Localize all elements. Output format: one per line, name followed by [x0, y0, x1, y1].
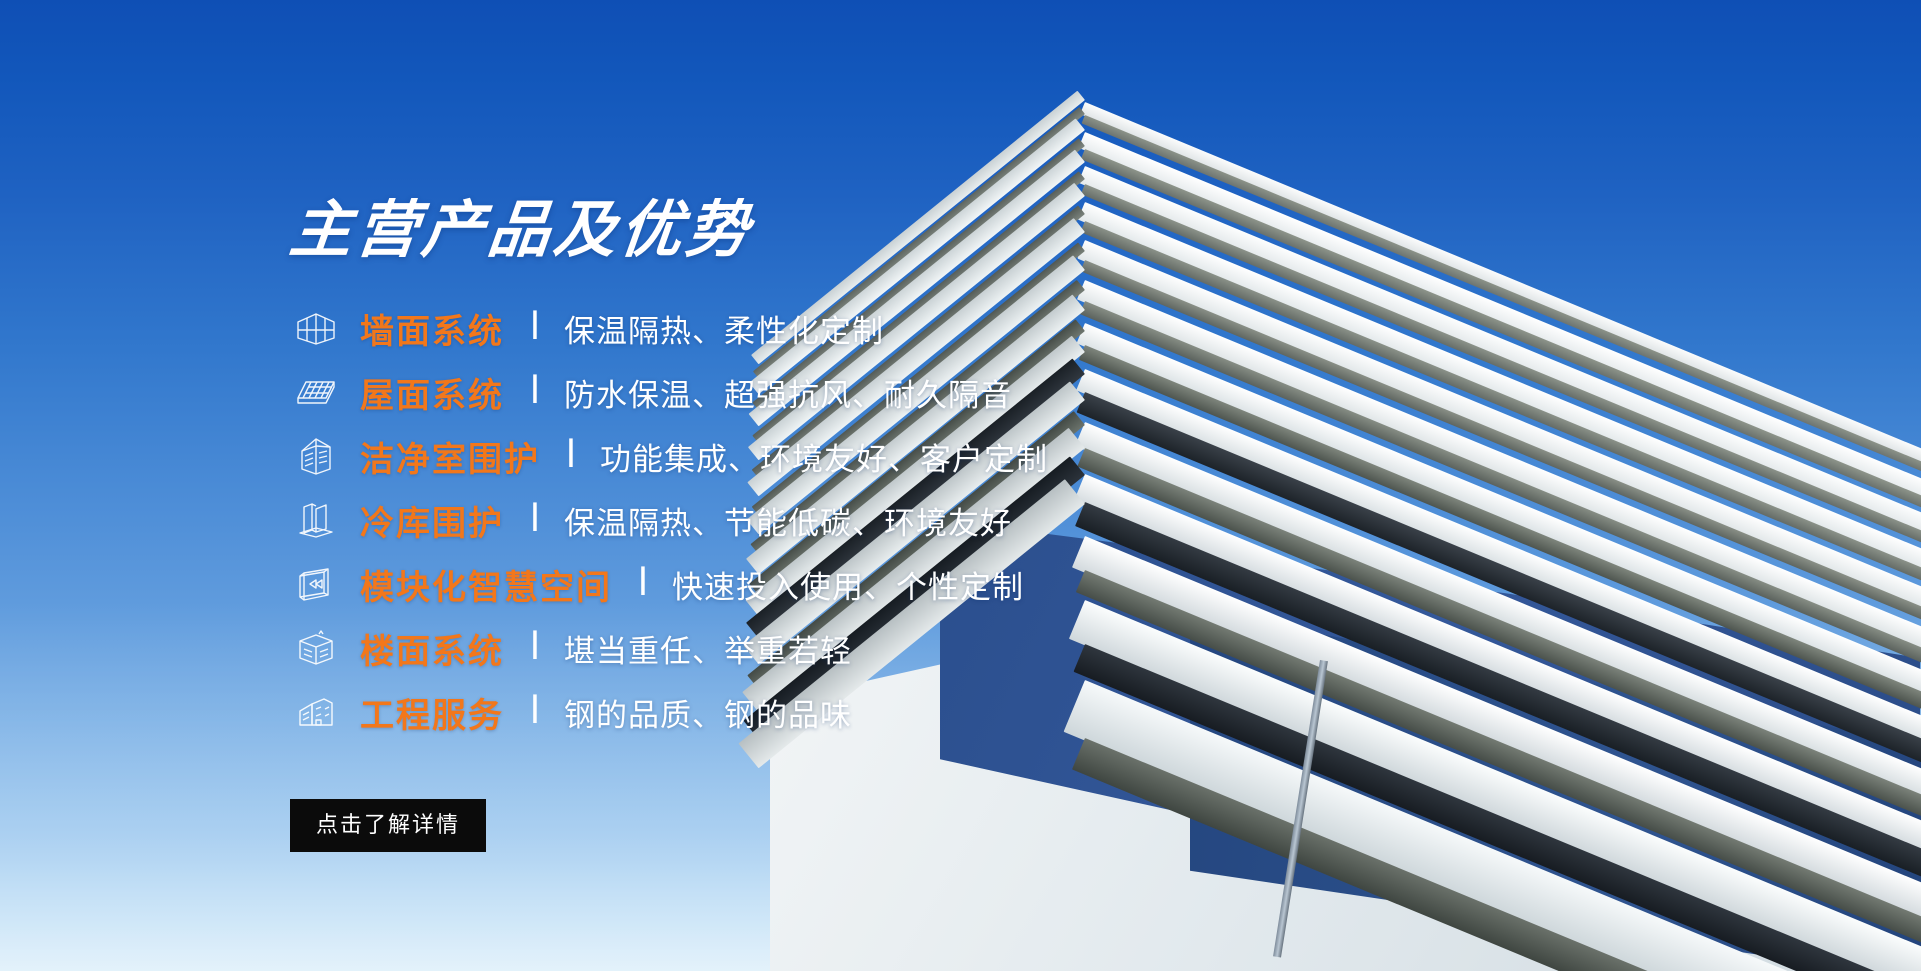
product-separator: 丨	[628, 568, 658, 598]
engineering-plant-icon	[290, 688, 342, 736]
modular-cube-icon	[290, 560, 342, 608]
product-row[interactable]: 屋面系统 丨 防水保温、超强抗风、耐久隔音	[290, 360, 1490, 424]
product-separator: 丨	[520, 312, 550, 342]
product-title: 工程服务	[360, 688, 504, 737]
product-title: 模块化智慧空间	[360, 560, 612, 609]
page-title: 主营产品及优势	[287, 200, 756, 262]
product-separator: 丨	[520, 696, 550, 726]
product-row[interactable]: 模块化智慧空间 丨 快速投入使用、个性定制	[290, 552, 1490, 616]
product-description: 保温隔热、柔性化定制	[564, 306, 884, 351]
product-row[interactable]: 楼面系统 丨 堪当重任、举重若轻	[290, 616, 1490, 680]
product-row[interactable]: 工程服务 丨 钢的品质、钢的品味	[290, 680, 1490, 744]
product-description: 钢的品质、钢的品味	[564, 690, 852, 735]
cold-storage-icon	[290, 496, 342, 544]
promo-banner: 主营产品及优势 墙面系统 丨 保温隔热、柔性化定制	[0, 0, 1921, 971]
product-title: 洁净室围护	[360, 432, 540, 481]
product-description: 快速投入使用、个性定制	[672, 562, 1024, 607]
product-description: 功能集成、环境友好、客户定制	[600, 434, 1048, 479]
product-separator: 丨	[520, 504, 550, 534]
product-description: 保温隔热、节能低碳、环境友好	[564, 498, 1012, 543]
product-title: 墙面系统	[360, 304, 504, 353]
product-row[interactable]: 墙面系统 丨 保温隔热、柔性化定制	[290, 296, 1490, 360]
product-row[interactable]: 洁净室围护 丨 功能集成、环境友好、客户定制	[290, 424, 1490, 488]
cleanroom-building-icon	[290, 432, 342, 480]
product-separator: 丨	[520, 376, 550, 406]
product-title: 屋面系统	[360, 368, 504, 417]
product-separator: 丨	[520, 632, 550, 662]
roof-panel-icon	[290, 368, 342, 416]
product-row[interactable]: 冷库围护 丨 保温隔热、节能低碳、环境友好	[290, 488, 1490, 552]
product-separator: 丨	[556, 440, 586, 470]
wall-frame-icon	[290, 304, 342, 352]
floor-box-icon	[290, 624, 342, 672]
product-description: 堪当重任、举重若轻	[564, 626, 852, 671]
product-title: 楼面系统	[360, 624, 504, 673]
product-list: 墙面系统 丨 保温隔热、柔性化定制 屋面系统 丨 防水保温、超强抗风、耐久隔音	[290, 296, 1490, 744]
learn-more-button[interactable]: 点击了解详情	[290, 799, 486, 852]
content-layer: 主营产品及优势 墙面系统 丨 保温隔热、柔性化定制	[0, 0, 1921, 971]
product-description: 防水保温、超强抗风、耐久隔音	[564, 370, 1012, 415]
product-title: 冷库围护	[360, 496, 504, 545]
